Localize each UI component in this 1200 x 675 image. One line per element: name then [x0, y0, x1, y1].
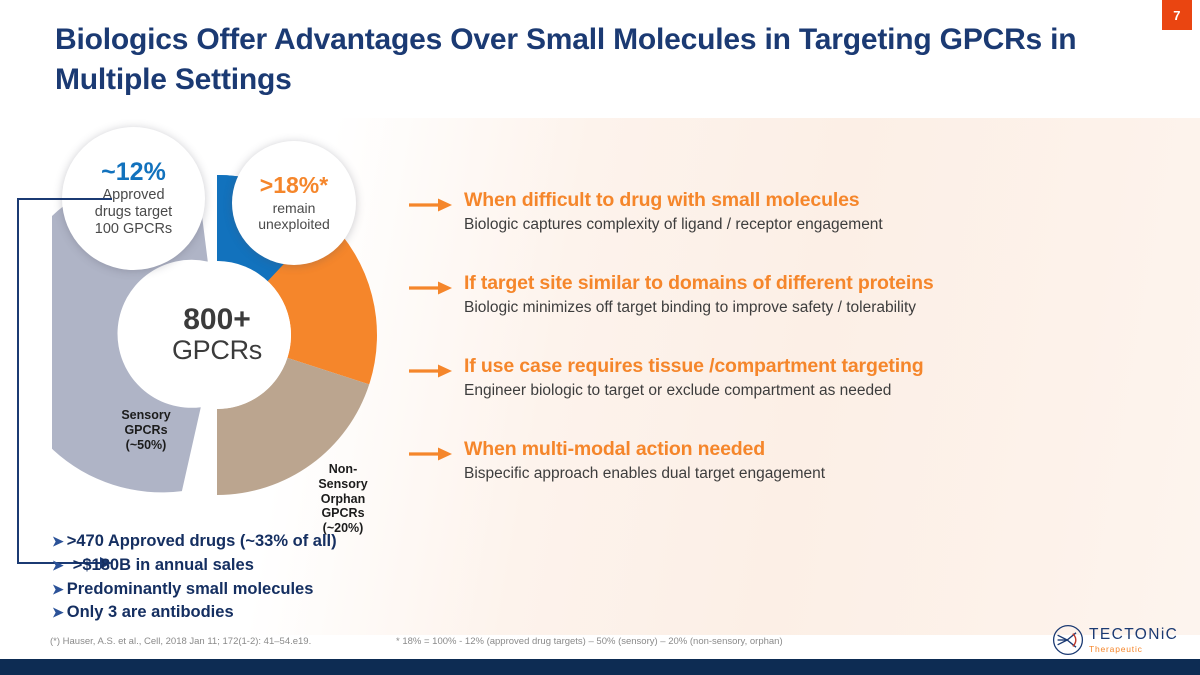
logo-text-block: TECTONiC Therapeutic [1089, 627, 1178, 653]
bubble-approved-value: ~12% [101, 159, 166, 187]
advantage-item: When multi-modal action needed Bispecifi… [408, 437, 1108, 493]
arrow-right-icon [408, 363, 454, 379]
advantage-item: If target site similar to domains of dif… [408, 271, 1108, 327]
bracket-connector-icon [12, 195, 122, 585]
advantages-list: When difficult to drug with small molecu… [408, 188, 1108, 493]
advantage-description: Engineer biologic to target or exclude c… [464, 381, 1108, 401]
fact-text: >470 Approved drugs (~33% of all) [67, 530, 337, 554]
fact-item: ➤ >470 Approved drugs (~33% of all) [52, 530, 472, 554]
arrow-right-icon [408, 197, 454, 213]
advantage-title: If target site similar to domains of dif… [464, 271, 1108, 295]
advantage-description: Biologic minimizes off target binding to… [464, 298, 1108, 318]
bubble-unexploited-text: remain unexploited [258, 200, 330, 233]
chevron-right-icon: ➤ [52, 579, 64, 599]
chevron-right-icon: ➤ [52, 531, 64, 551]
donut-center-primary: 800+ [183, 304, 251, 336]
page-title: Biologics Offer Advantages Over Small Mo… [55, 20, 1135, 100]
callout-bubble-unexploited: >18%* remain unexploited [232, 141, 356, 265]
advantage-description: Biologic captures complexity of ligand /… [464, 215, 1108, 235]
arrow-right-icon [408, 446, 454, 462]
advantage-description: Bispecific approach enables dual target … [464, 464, 1108, 484]
fact-text: Predominantly small molecules [67, 578, 314, 602]
fact-text: >$180B in annual sales [73, 554, 254, 578]
approved-drugs-facts: ➤ >470 Approved drugs (~33% of all) ➤ >$… [52, 530, 472, 625]
fact-item: ➤ Predominantly small molecules [52, 578, 472, 602]
footnote-calculation: * 18% = 100% - 12% (approved drug target… [396, 636, 783, 647]
advantage-title: If use case requires tissue /compartment… [464, 354, 1108, 378]
logo-tagline: Therapeutic [1089, 645, 1178, 654]
tectonic-antibody-icon [1052, 624, 1084, 656]
donut-center-label: 800+ GPCRs [143, 261, 291, 409]
chevron-right-icon: ➤ [52, 602, 64, 622]
advantage-item: When difficult to drug with small molecu… [408, 188, 1108, 244]
advantage-title: When difficult to drug with small molecu… [464, 188, 1108, 212]
donut-center-secondary: GPCRs [172, 336, 262, 366]
donut-label-orphan: Non- Sensory Orphan GPCRs (~20%) [300, 462, 386, 536]
footnote-source: (*) Hauser, A.S. et al., Cell, 2018 Jan … [50, 636, 311, 647]
fact-item: ➤ >$180B in annual sales [52, 554, 472, 578]
fact-text: Only 3 are antibodies [67, 601, 234, 625]
bubble-unexploited-value: >18%* [260, 173, 328, 198]
page-number-badge: 7 [1162, 0, 1192, 30]
slide-root: 7 Biologics Offer Advantages Over Small … [0, 0, 1200, 675]
logo-wordmark: TECTONiC [1089, 627, 1178, 643]
footer-bar [0, 659, 1200, 675]
arrow-right-icon [408, 280, 454, 296]
advantage-item: If use case requires tissue /compartment… [408, 354, 1108, 410]
chevron-right-icon: ➤ [52, 555, 64, 575]
advantage-title: When multi-modal action needed [464, 437, 1108, 461]
fact-item: ➤ Only 3 are antibodies [52, 601, 472, 625]
company-logo: TECTONiC Therapeutic [1052, 622, 1192, 658]
